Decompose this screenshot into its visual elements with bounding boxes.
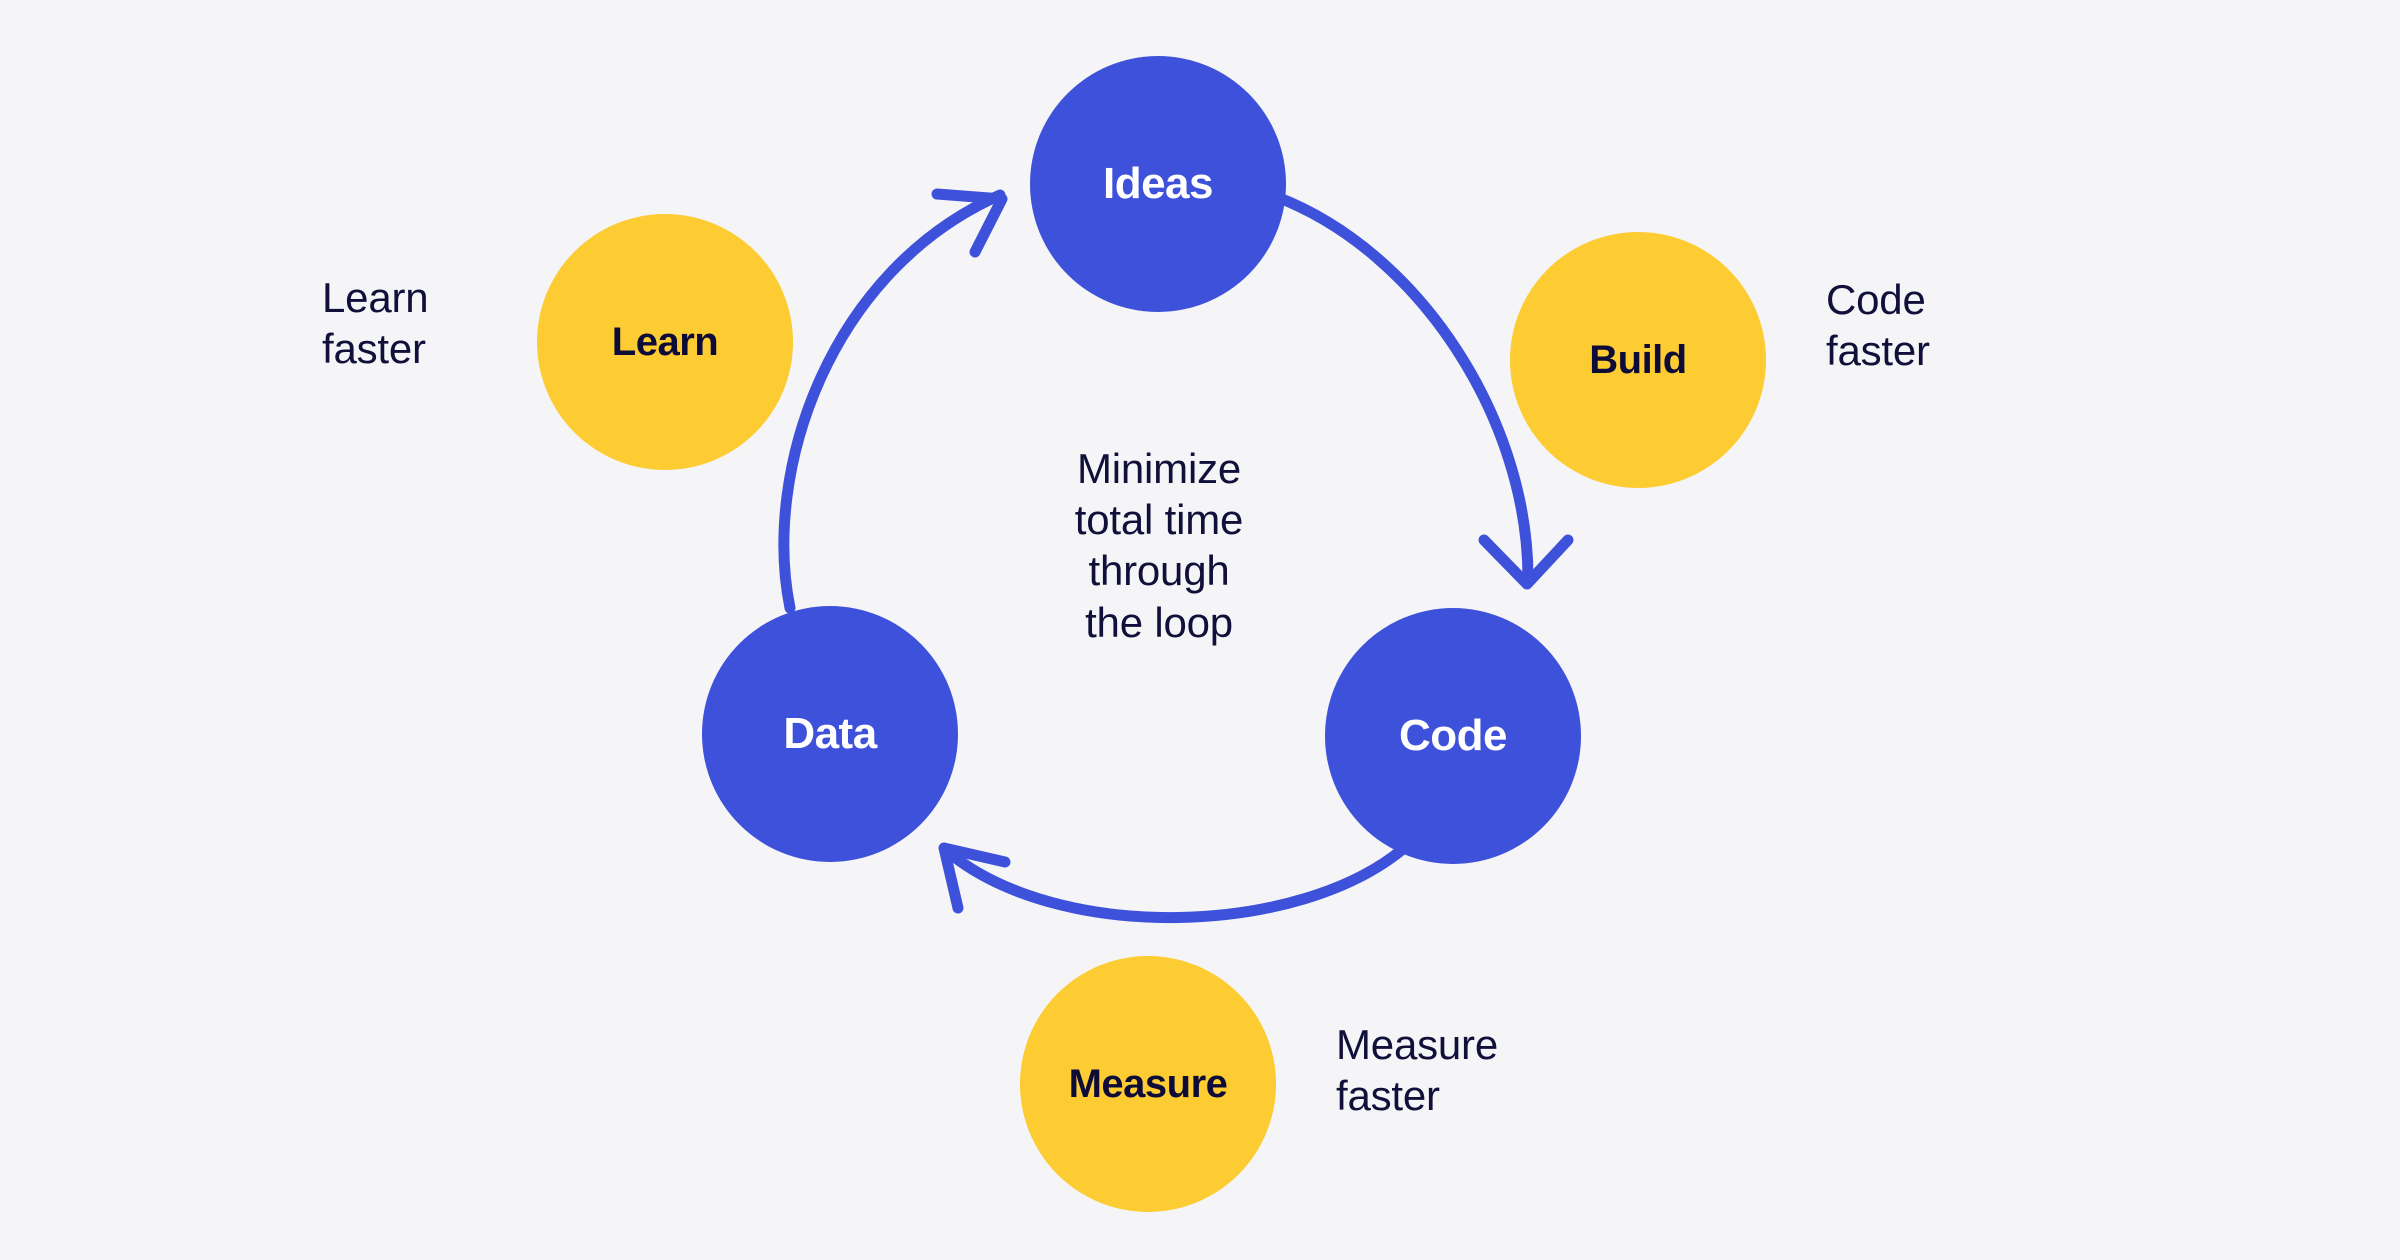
node-ideas[interactable]: Ideas (1030, 56, 1286, 312)
node-learn[interactable]: Learn (537, 214, 793, 470)
node-build-label: Build (1589, 340, 1686, 380)
arrow-ideas-to-code-path (1277, 197, 1528, 578)
node-data[interactable]: Data (702, 606, 958, 862)
node-code[interactable]: Code (1325, 608, 1581, 864)
arrow-code-to-data-path (948, 848, 1404, 918)
build-measure-learn-loop-diagram: Minimize total time through the loop Ide… (0, 0, 2400, 1260)
caption-code-faster: Code faster (1826, 274, 1930, 376)
node-data-label: Data (783, 712, 876, 756)
node-measure[interactable]: Measure (1020, 956, 1276, 1212)
node-ideas-label: Ideas (1103, 162, 1213, 206)
caption-learn-faster: Learn faster (322, 272, 428, 374)
node-build[interactable]: Build (1510, 232, 1766, 488)
node-code-label: Code (1399, 714, 1507, 758)
caption-measure-faster: Measure faster (1336, 1019, 1498, 1121)
arrow-data-to-ideas-path (784, 195, 1000, 608)
node-learn-label: Learn (612, 322, 718, 362)
node-measure-label: Measure (1069, 1064, 1228, 1104)
center-message: Minimize total time through the loop (1014, 443, 1304, 648)
